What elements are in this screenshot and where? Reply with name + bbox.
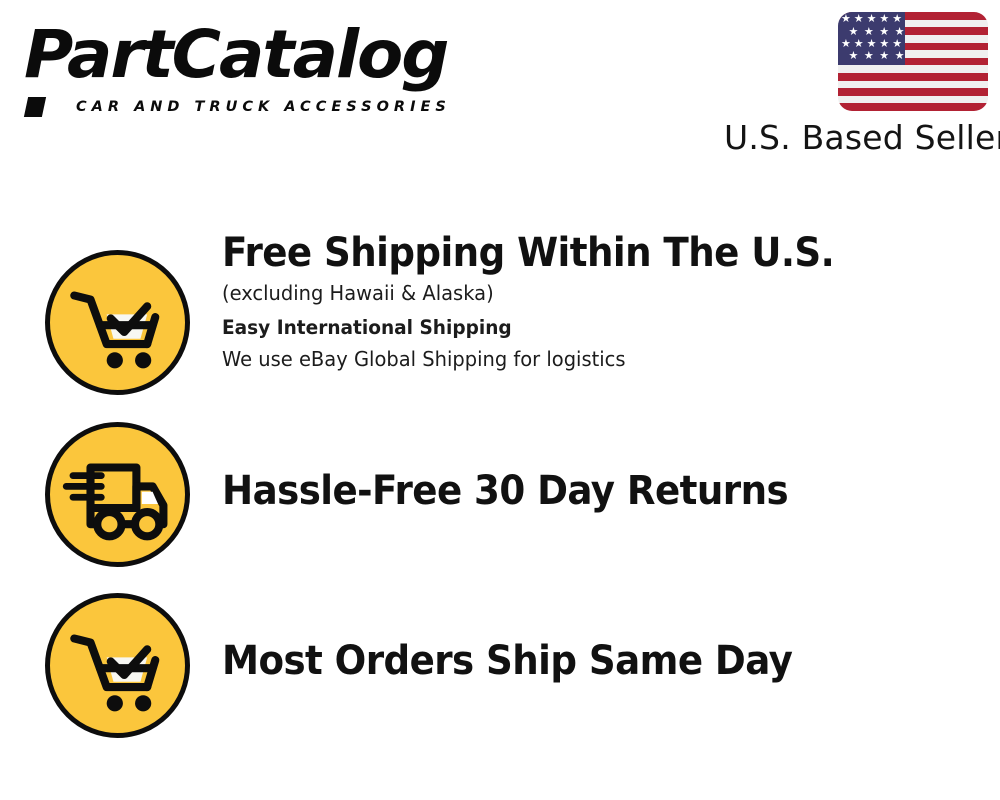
brand-wordmark: PartCatalog (24, 22, 503, 88)
us-based-seller-label: U.S. Based Seller (724, 119, 992, 157)
us-flag-icon: ★★★★★ ★★★★ ★★★★★ ★★★★ (838, 12, 988, 111)
feature-text: Most Orders Ship Same Day (222, 636, 962, 686)
feature-text: Hassle-Free 30 Day Returns (222, 466, 962, 516)
brand-logo[interactable]: PartCatalog CAR AND TRUCK ACCESSORIES (24, 22, 494, 118)
feature-title: Most Orders Ship Same Day (222, 636, 910, 686)
feature-row: Free Shipping Within The U.S. (excluding… (0, 228, 1000, 418)
feature-subtitle: We use eBay Global Shipping for logistic… (222, 344, 925, 374)
feature-row: Hassle-Free 30 Day Returns (0, 420, 1000, 570)
brand-slash-icon (24, 97, 46, 117)
feature-title: Hassle-Free 30 Day Returns (222, 466, 910, 516)
shopping-cart-check-icon (45, 593, 190, 738)
feature-subtitle: Easy International Shipping (222, 312, 925, 344)
feature-text: Free Shipping Within The U.S. (excluding… (222, 228, 962, 374)
shopping-cart-check-icon (45, 250, 190, 395)
delivery-truck-icon (45, 422, 190, 567)
brand-tagline-row: CAR AND TRUCK ACCESSORIES (26, 96, 492, 118)
flag-canton: ★★★★★ ★★★★ ★★★★★ ★★★★ (838, 12, 905, 65)
feature-subtitle: (excluding Hawaii & Alaska) (222, 278, 925, 308)
feature-title: Free Shipping Within The U.S. (222, 228, 910, 278)
feature-row: Most Orders Ship Same Day (0, 590, 1000, 742)
brand-tagline: CAR AND TRUCK ACCESSORIES (76, 98, 451, 116)
page-header: PartCatalog CAR AND TRUCK ACCESSORIES ★★… (0, 0, 1000, 175)
